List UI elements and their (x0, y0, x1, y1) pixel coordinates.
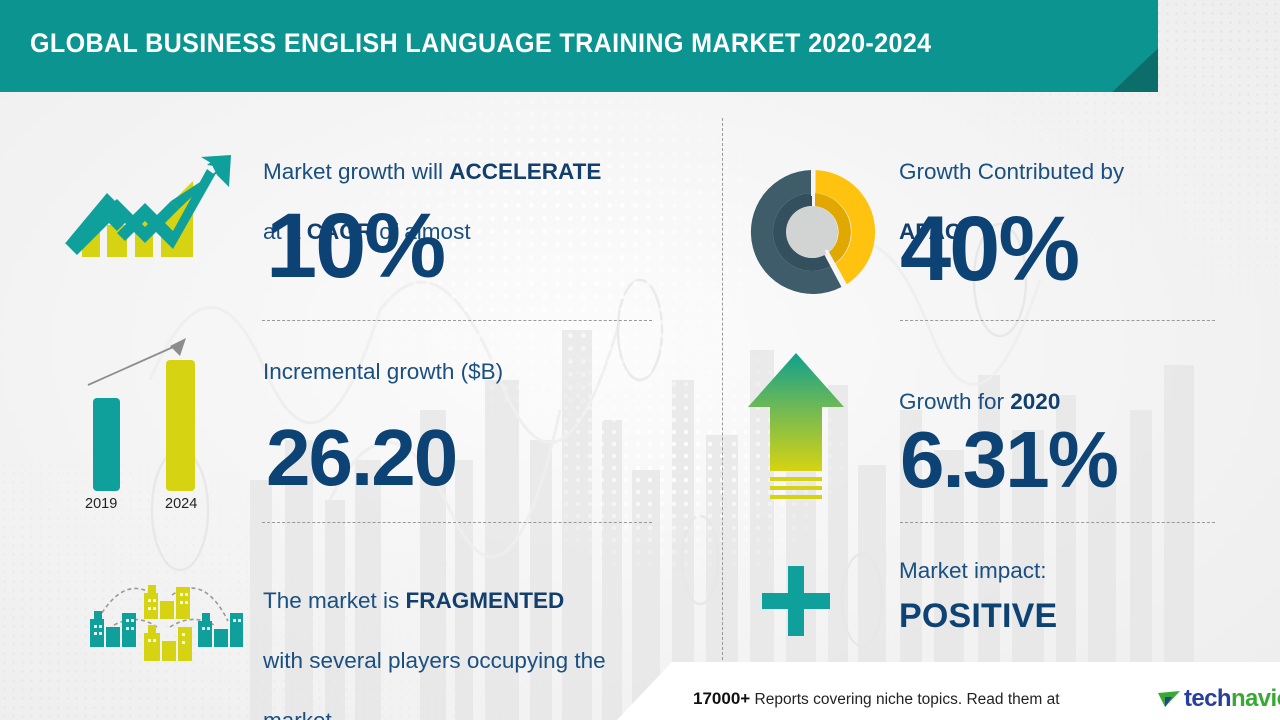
page-title: GLOBAL BUSINESS ENGLISH LANGUAGE TRAININ… (30, 28, 932, 59)
divider-left-2 (262, 522, 652, 523)
growth-bar-chart-arrow-icon (55, 145, 240, 300)
footer-text: 17000+ Reports covering niche topics. Re… (693, 689, 1060, 709)
market-impact-value: POSITIVE (899, 597, 1057, 636)
cagr-line1-plain: Market growth will (263, 159, 449, 184)
cagr-value: 10% (266, 200, 444, 292)
growth-2020-value: 6.31% (900, 420, 1117, 500)
incremental-growth-value: 26.20 (266, 418, 456, 498)
logo-text-navio: navio (1231, 685, 1280, 712)
footer-caption: Reports covering niche topics. Read them… (755, 691, 1060, 708)
header-banner: GLOBAL BUSINESS ENGLISH LANGUAGE TRAININ… (0, 0, 1280, 92)
center-vertical-divider (722, 118, 723, 660)
bar-label-2024: 2024 (165, 496, 197, 512)
apac-line1: Growth Contributed by (899, 159, 1124, 184)
growth-2020-description: Growth for 2020 (899, 357, 1060, 417)
bar-label-2019: 2019 (85, 496, 117, 512)
divider-left-1 (262, 320, 652, 321)
incremental-growth-label: Incremental growth ($B) (263, 357, 503, 387)
infographic-page: GLOBAL BUSINESS ENGLISH LANGUAGE TRAININ… (0, 0, 1280, 720)
technavio-arrow-icon (1157, 687, 1183, 711)
footer-band (0, 662, 1280, 720)
cagr-line1-bold: ACCELERATE (449, 159, 601, 184)
up-arrow-gradient-icon (748, 353, 868, 508)
apac-value: 40% (900, 203, 1078, 295)
footer-report-count: 17000+ (693, 689, 750, 708)
growth-2020-line1-pre: Growth for (899, 389, 1010, 414)
fragmented-line1-pre: The market is (263, 588, 406, 613)
market-impact-label: Market impact: (899, 556, 1047, 586)
donut-chart-icon (742, 162, 882, 302)
two-bar-comparison-icon (58, 330, 243, 495)
divider-right-2 (900, 522, 1215, 523)
divider-right-1 (900, 320, 1215, 321)
technavio-logo[interactable]: technavio™ (1157, 685, 1280, 713)
plus-sign-icon (758, 562, 838, 642)
fragmented-line1-bold: FRAGMENTED (406, 588, 565, 613)
logo-text-tech: tech (1184, 685, 1231, 712)
growth-2020-year: 2020 (1010, 389, 1060, 414)
city-buildings-network-icon (62, 555, 252, 665)
